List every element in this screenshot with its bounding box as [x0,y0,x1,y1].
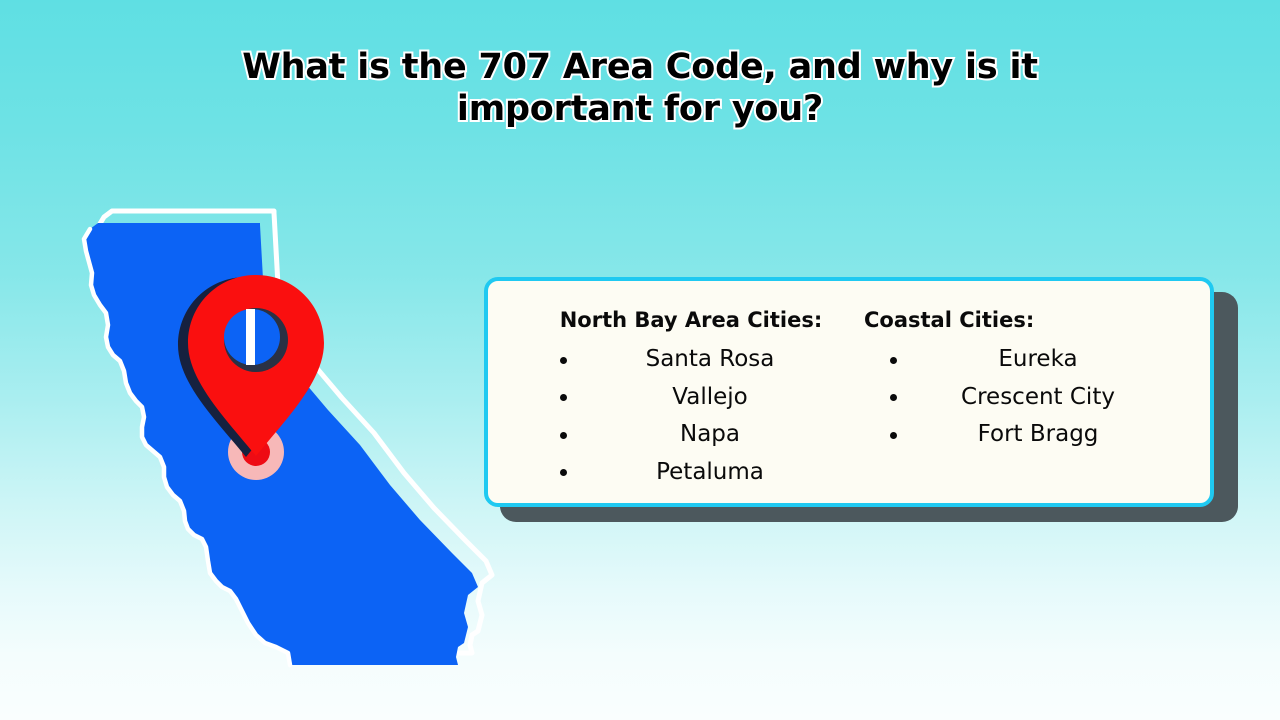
list-item: Crescent City [862,379,1194,417]
bullet-icon [890,357,897,364]
list-item: Napa [538,416,844,454]
page-title: What is the 707 Area Code, and why is it… [240,46,1040,130]
pin-hole-highlight [246,309,255,365]
coastal-column: Coastal Cities: Eureka Crescent City For… [844,307,1194,454]
bullet-icon [560,357,567,364]
list-item: Vallejo [538,379,844,417]
city-label: Fort Bragg [978,421,1099,447]
city-label: Santa Rosa [646,346,775,372]
north-bay-city-list: Santa Rosa Vallejo Napa Petaluma [538,341,844,491]
list-item: Petaluma [538,454,844,492]
california-map-illustration [60,195,520,695]
bullet-icon [890,432,897,439]
bullet-icon [560,469,567,476]
bullet-icon [890,394,897,401]
city-label: Petaluma [656,459,764,485]
north-bay-heading: North Bay Area Cities: [538,307,844,333]
coastal-heading: Coastal Cities: [862,307,1194,333]
city-label: Eureka [998,346,1077,372]
city-label: Vallejo [672,384,747,410]
city-label: Crescent City [961,384,1115,410]
list-item: Fort Bragg [862,416,1194,454]
city-label: Napa [680,421,740,447]
bullet-icon [560,394,567,401]
list-item: Santa Rosa [538,341,844,379]
north-bay-column: North Bay Area Cities: Santa Rosa Vallej… [496,307,844,491]
coastal-city-list: Eureka Crescent City Fort Bragg [862,341,1194,454]
bullet-icon [560,432,567,439]
list-item: Eureka [862,341,1194,379]
cities-info-card: North Bay Area Cities: Santa Rosa Vallej… [484,277,1214,507]
slide-canvas: What is the 707 Area Code, and why is it… [0,0,1280,720]
